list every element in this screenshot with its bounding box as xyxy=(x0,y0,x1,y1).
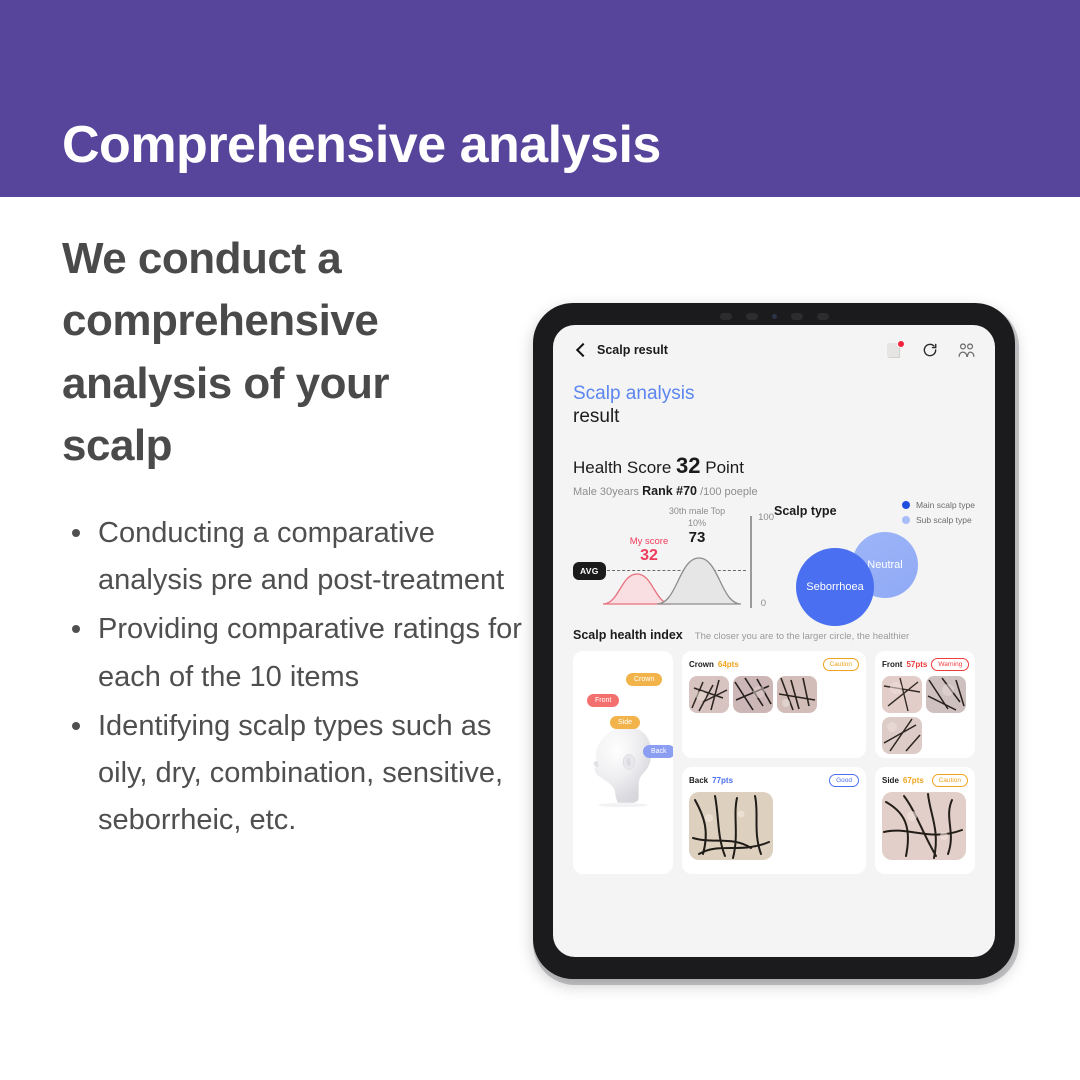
sensor-dot xyxy=(791,313,803,320)
note-icon[interactable] xyxy=(887,342,902,359)
my-score-curve xyxy=(603,574,671,604)
device-sensor-array xyxy=(533,310,1015,322)
demographic-label: Male 30years xyxy=(573,486,639,498)
chart-row: AVG My score 32 30th male Top 10% 73 100… xyxy=(573,500,975,612)
head-pill-back[interactable]: Back xyxy=(643,745,673,758)
feature-bullet-list: Conducting a comparative analysis pre an… xyxy=(62,510,532,845)
user-icon[interactable] xyxy=(958,342,975,358)
card-header: Back 77pts Good xyxy=(689,774,859,787)
scalp-thumbnails xyxy=(882,676,968,754)
app-bar: Scalp result xyxy=(573,325,975,369)
sensor-dot xyxy=(746,313,758,320)
head-diagram-card: Front Crown Side Back xyxy=(573,651,673,874)
scalp-type-bubbles: Neutral Seborrhoea xyxy=(792,530,993,626)
my-score-value: 32 xyxy=(619,547,679,565)
list-item: Providing comparative ratings for each o… xyxy=(62,606,532,701)
legend-dot-sub xyxy=(902,516,910,524)
analysis-heading: Scalp analysis result xyxy=(573,369,975,429)
card-header: Side 67pts Caution xyxy=(882,774,968,787)
region-card-back[interactable]: Back 77pts Good xyxy=(682,767,866,874)
scalp-type-panel: Scalp type Main scalp type Sub scalp typ… xyxy=(774,500,975,612)
scalp-thumbnails xyxy=(689,676,859,713)
page-title: Comprehensive analysis xyxy=(0,119,661,197)
score-distribution-chart: AVG My score 32 30th male Top 10% 73 100… xyxy=(573,500,774,612)
scalp-thumbnail[interactable] xyxy=(733,676,773,713)
rank-total: /100 poeple xyxy=(700,486,758,498)
scalp-thumbnails xyxy=(882,792,968,860)
scalp-thumbnail[interactable] xyxy=(777,676,817,713)
head-pill-crown[interactable]: Crown xyxy=(626,673,662,686)
y-axis-tick-min: 0 xyxy=(761,598,766,609)
health-score-value: 32 xyxy=(676,453,700,478)
left-content: We conduct a comprehensive analysis of y… xyxy=(62,228,532,847)
region-card-side[interactable]: Side 67pts Caution xyxy=(875,767,975,874)
scalp-type-legend: Main scalp type Sub scalp type xyxy=(902,500,975,530)
tablet-device-frame: Scalp result xyxy=(533,303,1015,979)
scalp-thumbnails xyxy=(689,792,859,860)
region-card-crown[interactable]: Crown 64pts Caution xyxy=(682,651,866,758)
region-points: 77pts xyxy=(712,776,733,785)
front-camera-icon xyxy=(772,314,777,319)
rank-value: Rank #70 xyxy=(642,484,697,498)
scalp-thumbnail[interactable] xyxy=(882,792,966,860)
status-badge: Caution xyxy=(823,658,859,671)
header-banner: Comprehensive analysis xyxy=(0,0,1080,197)
benchmark-value: 73 xyxy=(661,529,733,546)
status-badge: Good xyxy=(829,774,859,787)
sensor-dot xyxy=(720,313,732,320)
app-screen: Scalp result xyxy=(553,325,995,957)
legend-label: Sub scalp type xyxy=(916,515,972,525)
chevron-left-icon[interactable] xyxy=(573,342,589,358)
health-index-grid: Crown 64pts Caution xyxy=(573,651,975,874)
legend-label: Main scalp type xyxy=(916,500,975,510)
headline: We conduct a comprehensive analysis of y… xyxy=(62,228,457,478)
list-item: Identifying scalp types such as oily, dr… xyxy=(62,703,532,845)
status-badge: Warning xyxy=(931,658,969,671)
scalp-thumbnail[interactable] xyxy=(689,792,773,860)
region-name: Back xyxy=(689,776,708,785)
health-index-header: Scalp health index The closer you are to… xyxy=(573,628,975,642)
region-card-front[interactable]: Front 57pts Warning xyxy=(875,651,975,758)
scalp-thumbnail[interactable] xyxy=(882,676,922,713)
region-points: 64pts xyxy=(718,660,739,669)
health-score-label: Health Score xyxy=(573,458,671,477)
score-meta-line: Male 30years Rank #70 /100 poeple xyxy=(573,484,975,498)
legend-item: Sub scalp type xyxy=(902,515,975,525)
region-points: 57pts xyxy=(906,660,927,669)
y-axis xyxy=(750,516,752,608)
refresh-icon[interactable] xyxy=(922,342,938,358)
health-index-subtitle: The closer you are to the larger circle,… xyxy=(695,631,909,642)
region-name: Crown xyxy=(689,660,714,669)
head-pill-side[interactable]: Side xyxy=(610,716,640,729)
health-index-title: Scalp health index xyxy=(573,628,683,642)
scalp-thumbnail[interactable] xyxy=(926,676,966,713)
scalp-thumbnail[interactable] xyxy=(882,717,922,754)
region-name: Front xyxy=(882,660,902,669)
region-name: Side xyxy=(882,776,899,785)
card-header: Front 57pts Warning xyxy=(882,658,968,671)
status-badge: Caution xyxy=(932,774,968,787)
benchmark-label: 30th male Top 10% xyxy=(661,506,733,529)
head-pill-front[interactable]: Front xyxy=(587,694,619,707)
app-bar-actions xyxy=(887,342,975,359)
health-score-unit: Point xyxy=(705,458,744,477)
legend-dot-main xyxy=(902,501,910,509)
region-points: 67pts xyxy=(903,776,924,785)
list-item: Conducting a comparative analysis pre an… xyxy=(62,510,532,605)
sensor-dot xyxy=(817,313,829,320)
y-axis-tick-max: 100 xyxy=(758,512,774,523)
health-score-line: Health Score 32 Point xyxy=(573,453,975,479)
app-bar-title: Scalp result xyxy=(597,343,668,357)
card-header: Crown 64pts Caution xyxy=(689,658,859,671)
heading-line-1: Scalp analysis xyxy=(573,383,975,405)
scalp-thumbnail[interactable] xyxy=(689,676,729,713)
notification-badge xyxy=(897,340,905,348)
main-scalp-type-bubble: Seborrhoea xyxy=(796,548,874,626)
heading-line-2: result xyxy=(573,405,975,429)
legend-item: Main scalp type xyxy=(902,500,975,510)
